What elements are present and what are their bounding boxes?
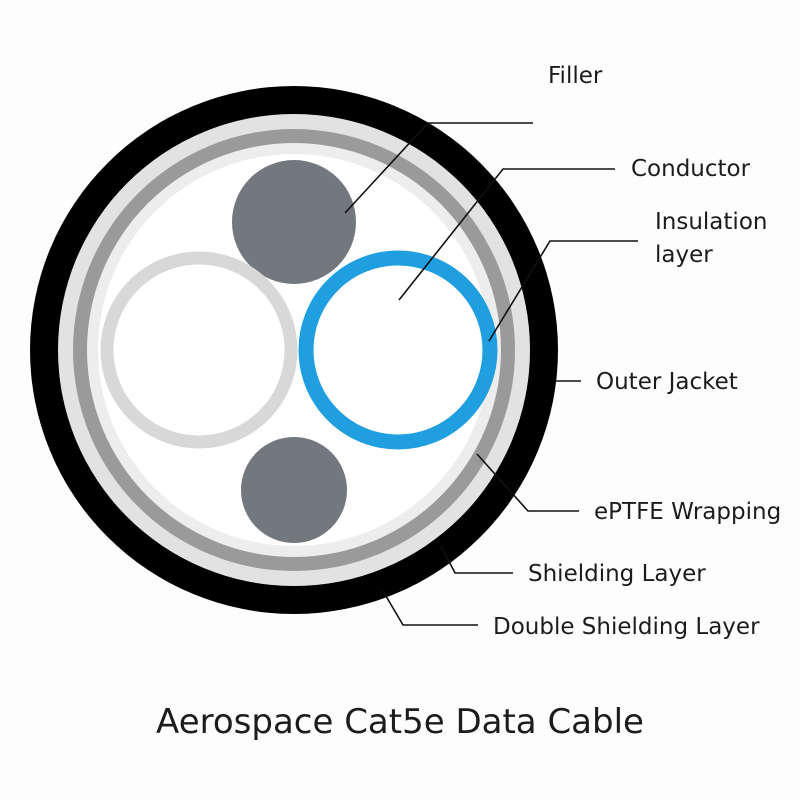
callout-label-eptfe-wrapping: ePTFE Wrapping: [594, 499, 781, 525]
filler-bottom-circle: [241, 437, 347, 543]
callout-label-shielding-layer: Shielding Layer: [528, 561, 706, 587]
cable-diagram-canvas: Filler Conductor Insulation layer Outer …: [0, 0, 800, 800]
diagram-title: Aerospace Cat5e Data Cable: [156, 702, 644, 742]
callout-label-insulation-layer-line2: layer: [655, 242, 713, 268]
callout-label-outer-jacket: Outer Jacket: [596, 369, 738, 395]
conductor-pair-left-ring: [107, 258, 291, 442]
leader-line-double-shielding-layer: [383, 591, 478, 625]
callout-label-insulation-layer-line1: Insulation: [655, 209, 767, 235]
filler-top-circle: [232, 160, 356, 284]
callout-label-double-shielding-layer: Double Shielding Layer: [493, 614, 760, 640]
callout-label-filler: Filler: [548, 63, 603, 89]
cable-cross-section-diagram: Filler Conductor Insulation layer Outer …: [0, 0, 800, 800]
conductor-pair-right-ring: [306, 258, 490, 442]
callout-label-conductor: Conductor: [631, 156, 751, 182]
